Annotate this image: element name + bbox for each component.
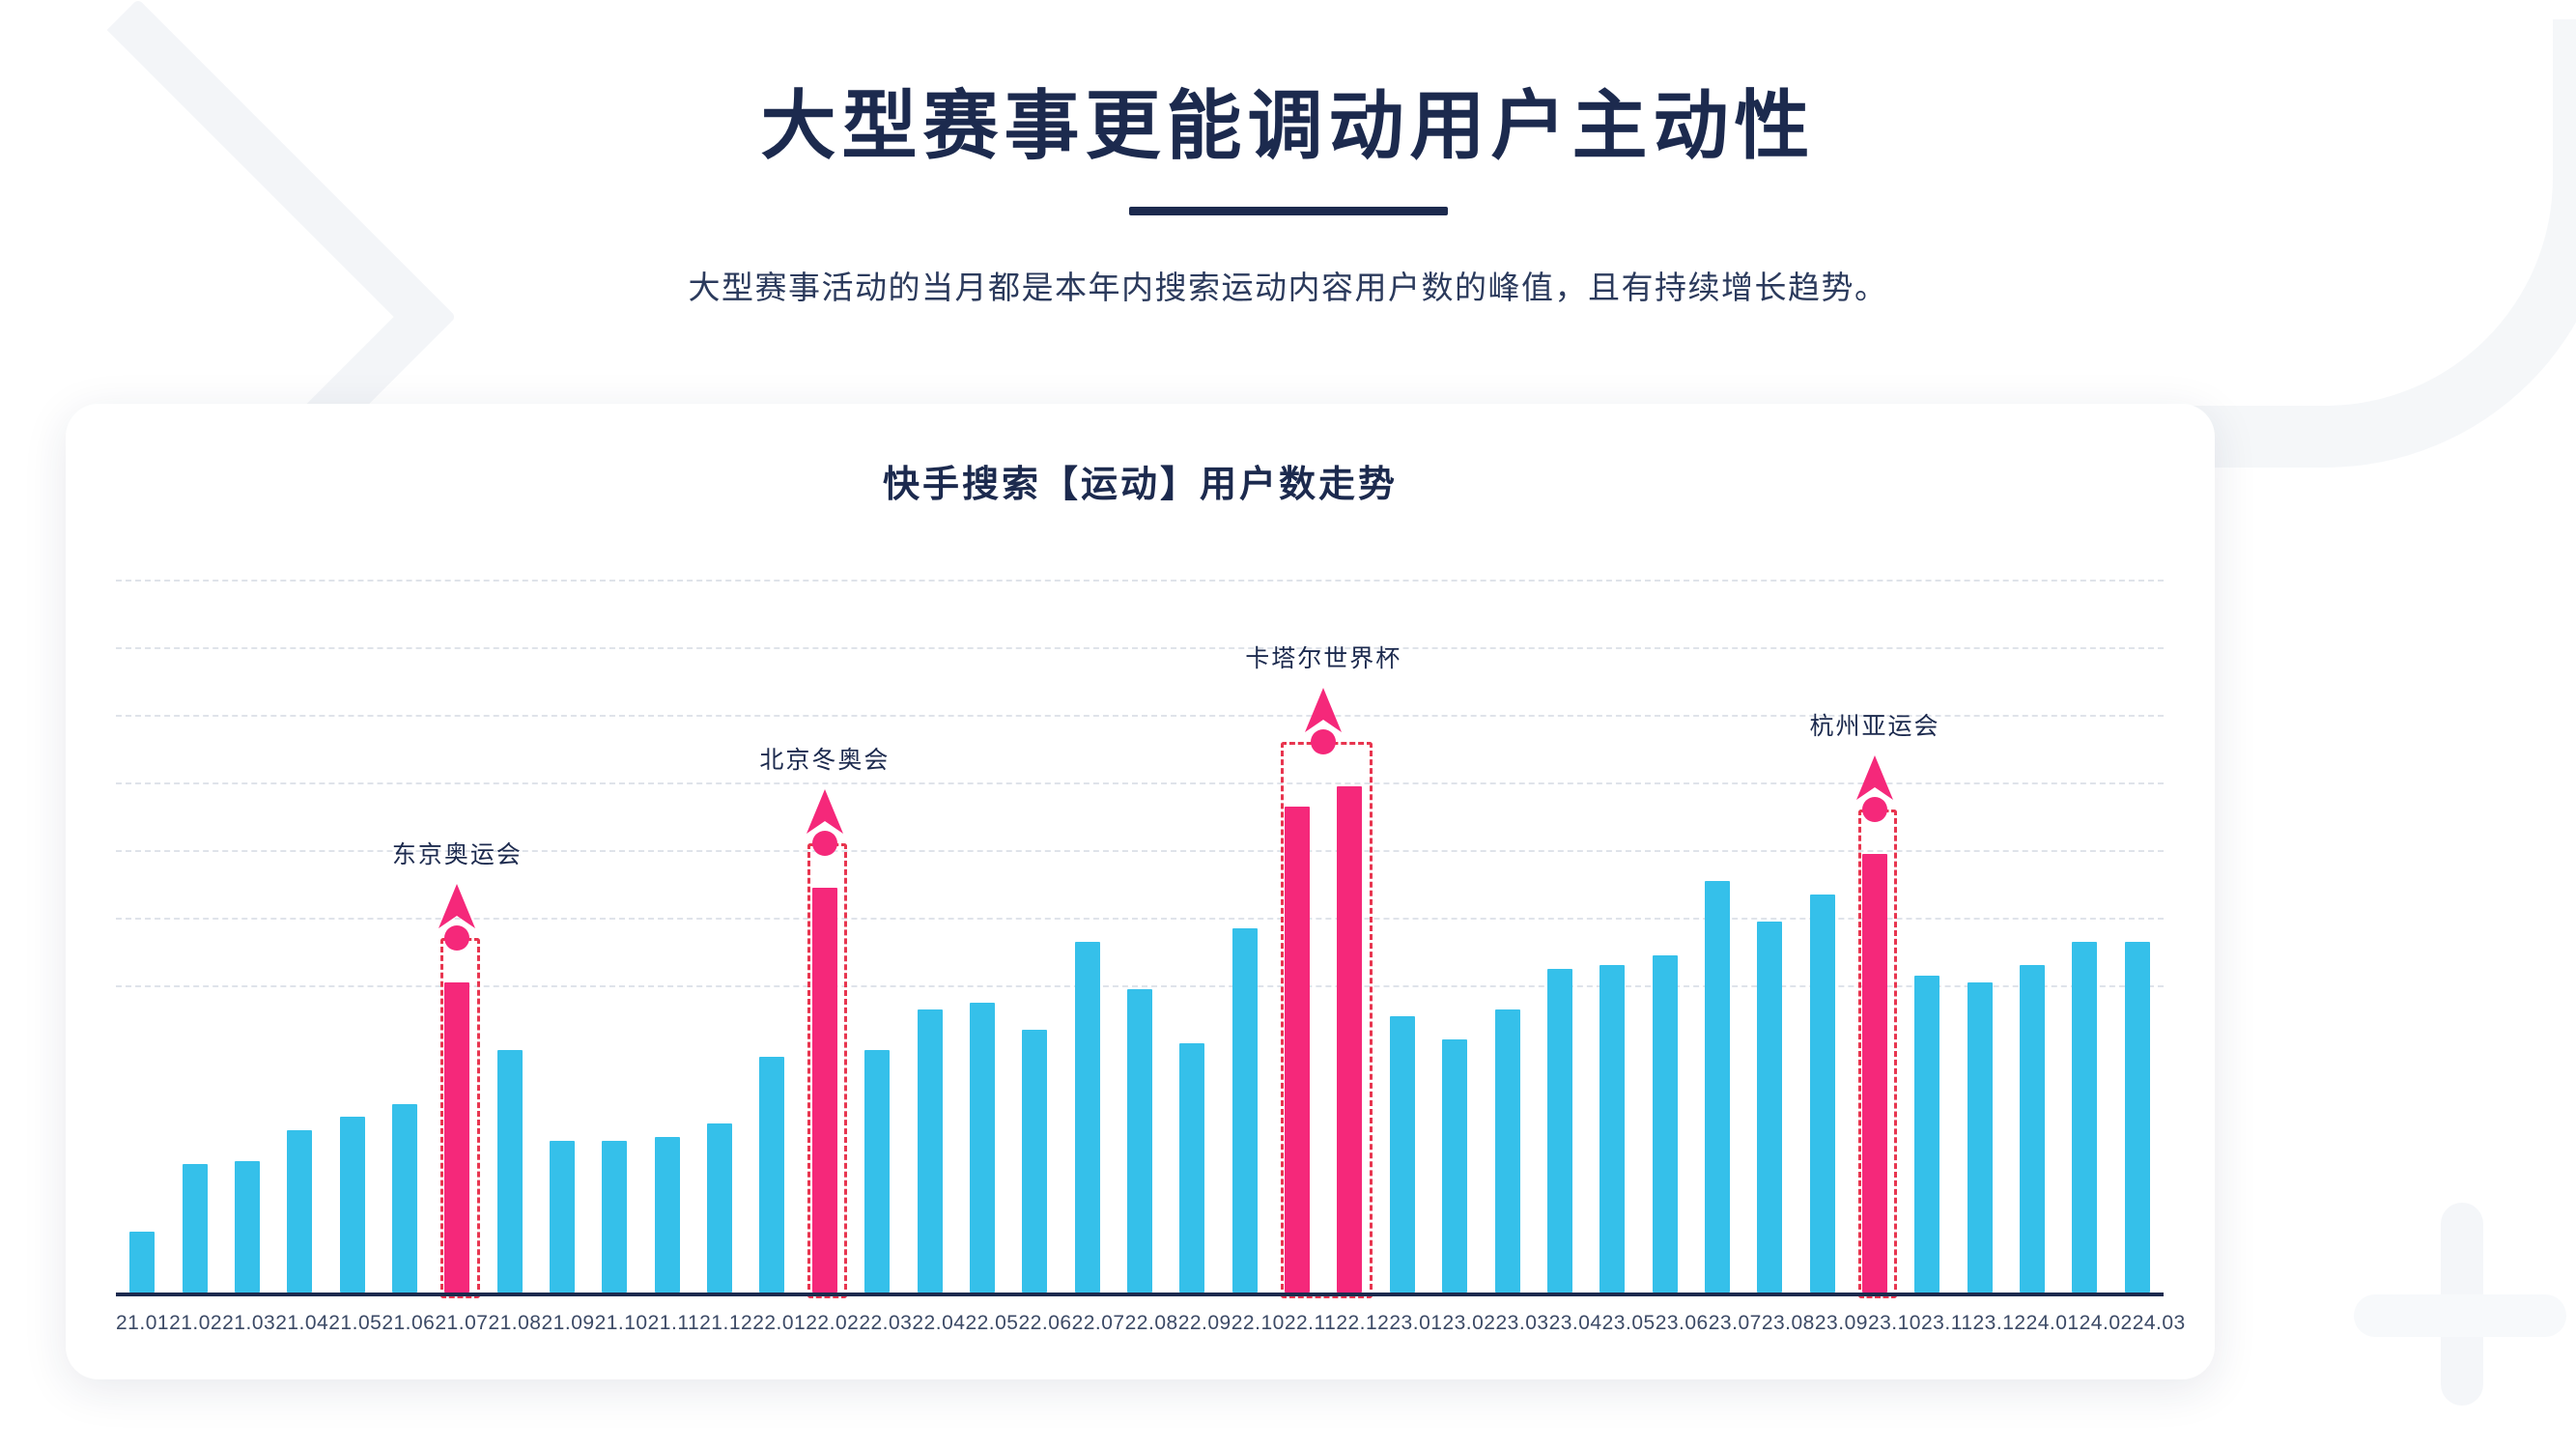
x-axis-label: 21.11	[648, 1312, 700, 1335]
bar-slot[interactable]	[746, 551, 798, 1293]
bar-slot[interactable]	[1166, 551, 1218, 1293]
bar-slot[interactable]	[379, 551, 431, 1293]
bar-slot[interactable]	[484, 551, 536, 1293]
bar[interactable]	[1179, 1043, 1204, 1293]
bar-slot[interactable]	[903, 551, 955, 1293]
bar-slot[interactable]	[799, 551, 851, 1293]
bar[interactable]	[759, 1057, 784, 1293]
bar-slot[interactable]	[2006, 551, 2058, 1293]
bar-slot[interactable]	[1743, 551, 1796, 1293]
x-axis-label: 21.12	[699, 1312, 752, 1335]
x-axis-label: 21.04	[275, 1312, 328, 1335]
bar-slot[interactable]	[168, 551, 220, 1293]
x-axis-label: 21.10	[595, 1312, 648, 1335]
bar[interactable]	[1810, 895, 1835, 1293]
x-axis-label: 22.02	[806, 1312, 859, 1335]
x-axis-label: 24.02	[2080, 1312, 2133, 1335]
bar[interactable]	[235, 1161, 260, 1293]
bar[interactable]	[392, 1104, 417, 1293]
page-header: 大型赛事更能调动用户主动性 大型赛事活动的当月都是本年内搜索运动内容用户数的峰值…	[0, 0, 2576, 308]
bar-highlight[interactable]	[812, 888, 837, 1293]
bars-group	[116, 551, 2164, 1293]
bar-slot[interactable]	[1901, 551, 1953, 1293]
x-axis-label: 23.08	[1762, 1312, 1815, 1335]
x-axis-label: 21.05	[328, 1312, 382, 1335]
bar-slot[interactable]	[1061, 551, 1113, 1293]
bar[interactable]	[2020, 965, 2045, 1293]
bar[interactable]	[655, 1137, 680, 1293]
bar[interactable]	[1390, 1016, 1415, 1293]
bar-chart-plot-area: 东京奥运会北京冬奥会卡塔尔世界杯杭州亚运会	[116, 551, 2164, 1296]
bar[interactable]	[1705, 881, 1730, 1293]
bar-highlight[interactable]	[444, 982, 469, 1293]
x-axis-label: 22.09	[1178, 1312, 1231, 1335]
x-axis-label: 22.03	[859, 1312, 912, 1335]
x-axis-label: 22.01	[752, 1312, 806, 1335]
x-axis-label: 23.10	[1868, 1312, 1921, 1335]
bar-highlight[interactable]	[1337, 786, 1362, 1293]
bar[interactable]	[340, 1117, 365, 1293]
x-axis-label: 23.05	[1602, 1312, 1656, 1335]
x-axis-label: 22.07	[1072, 1312, 1125, 1335]
bar[interactable]	[2072, 942, 2097, 1293]
bar-slot[interactable]	[1271, 551, 1323, 1293]
bar[interactable]	[1757, 922, 1782, 1293]
x-axis-label: 21.06	[382, 1312, 435, 1335]
bar-slot[interactable]	[641, 551, 694, 1293]
bar[interactable]	[1232, 928, 1258, 1293]
x-axis-label: 22.05	[965, 1312, 1018, 1335]
bar[interactable]	[497, 1050, 523, 1293]
bar-slot[interactable]	[2111, 551, 2164, 1293]
page-title: 大型赛事更能调动用户主动性	[0, 0, 2576, 168]
bar[interactable]	[1599, 965, 1625, 1293]
bar-slot[interactable]	[1954, 551, 2006, 1293]
bar[interactable]	[1022, 1030, 1047, 1293]
x-axis-label: 22.10	[1231, 1312, 1285, 1335]
bar-slot[interactable]	[1691, 551, 1743, 1293]
bar[interactable]	[550, 1141, 575, 1293]
bar[interactable]	[918, 1009, 943, 1293]
x-axis-label: 23.11	[1921, 1312, 1973, 1335]
bar-slot[interactable]	[694, 551, 746, 1293]
bar-highlight[interactable]	[1285, 807, 1310, 1293]
bar[interactable]	[864, 1050, 890, 1293]
bar[interactable]	[1075, 942, 1100, 1293]
x-axis-label: 22.11	[1285, 1312, 1337, 1335]
x-axis-label: 22.04	[912, 1312, 965, 1335]
bar[interactable]	[183, 1164, 208, 1293]
x-axis-label: 22.06	[1019, 1312, 1072, 1335]
x-axis-label: 21.08	[488, 1312, 541, 1335]
bar-slot[interactable]	[536, 551, 588, 1293]
x-axis-labels: 21.0121.0221.0321.0421.0521.0621.0721.08…	[116, 1312, 2164, 1335]
x-axis-line	[116, 1293, 2164, 1296]
bar[interactable]	[2125, 942, 2150, 1293]
bar[interactable]	[1495, 1009, 1520, 1293]
x-axis-label: 21.07	[435, 1312, 488, 1335]
bar-slot[interactable]	[851, 551, 903, 1293]
x-axis-label: 24.01	[2026, 1312, 2080, 1335]
x-axis-label: 22.12	[1336, 1312, 1389, 1335]
x-axis-label: 24.03	[2133, 1312, 2186, 1335]
bar-highlight[interactable]	[1862, 854, 1887, 1293]
bar-slot[interactable]	[431, 551, 483, 1293]
bar[interactable]	[1127, 989, 1152, 1293]
x-axis-label: 21.09	[542, 1312, 595, 1335]
x-axis-label: 23.04	[1549, 1312, 1602, 1335]
bar[interactable]	[1967, 982, 1993, 1293]
bar[interactable]	[970, 1003, 995, 1293]
bar[interactable]	[1442, 1039, 1467, 1293]
chart-title: 快手搜索【运动】用户数走势	[66, 454, 2215, 507]
bar-slot[interactable]	[1586, 551, 1638, 1293]
bar-slot[interactable]	[588, 551, 640, 1293]
bar-slot[interactable]	[1323, 551, 1375, 1293]
bar-slot[interactable]	[273, 551, 326, 1293]
x-axis-label: 23.06	[1656, 1312, 1709, 1335]
x-axis-label: 23.03	[1496, 1312, 1549, 1335]
x-axis-label: 21.03	[222, 1312, 275, 1335]
bar-slot[interactable]	[1114, 551, 1166, 1293]
x-axis-label: 23.01	[1389, 1312, 1442, 1335]
bar-slot[interactable]	[1534, 551, 1586, 1293]
bar-slot[interactable]	[1849, 551, 1901, 1293]
bar[interactable]	[707, 1123, 732, 1293]
bar[interactable]	[129, 1232, 155, 1293]
bar-slot[interactable]	[1429, 551, 1481, 1293]
plus-decoration-vertical	[2441, 1203, 2483, 1406]
bar[interactable]	[1914, 976, 1939, 1293]
x-axis-label: 23.02	[1442, 1312, 1495, 1335]
title-underline-rule	[1129, 207, 1448, 215]
bar-slot[interactable]	[956, 551, 1008, 1293]
bar[interactable]	[1547, 969, 1572, 1293]
bar-slot[interactable]	[1219, 551, 1271, 1293]
x-axis-label: 23.12	[1973, 1312, 2026, 1335]
x-axis-label: 21.01	[116, 1312, 169, 1335]
bar-slot[interactable]	[221, 551, 273, 1293]
bar-slot[interactable]	[1008, 551, 1061, 1293]
bar-slot[interactable]	[1797, 551, 1849, 1293]
plus-decoration-horizontal	[2354, 1294, 2566, 1337]
x-axis-label: 21.02	[169, 1312, 222, 1335]
bar[interactable]	[1653, 955, 1678, 1293]
bar-slot[interactable]	[2058, 551, 2110, 1293]
bar-slot[interactable]	[1638, 551, 1690, 1293]
bar-slot[interactable]	[1376, 551, 1429, 1293]
x-axis-label: 23.09	[1815, 1312, 1868, 1335]
bar-slot[interactable]	[116, 551, 168, 1293]
bar-slot[interactable]	[1481, 551, 1533, 1293]
bar-slot[interactable]	[326, 551, 378, 1293]
bar[interactable]	[602, 1141, 627, 1293]
chart-card: 快手搜索【运动】用户数走势 东京奥运会北京冬奥会卡塔尔世界杯杭州亚运会 21.0…	[66, 404, 2215, 1379]
bar[interactable]	[287, 1130, 312, 1293]
x-axis-label: 22.08	[1125, 1312, 1178, 1335]
page-subtitle: 大型赛事活动的当月都是本年内搜索运动内容用户数的峰值，且有持续增长趋势。	[0, 262, 2576, 308]
x-axis-label: 23.07	[1709, 1312, 1762, 1335]
